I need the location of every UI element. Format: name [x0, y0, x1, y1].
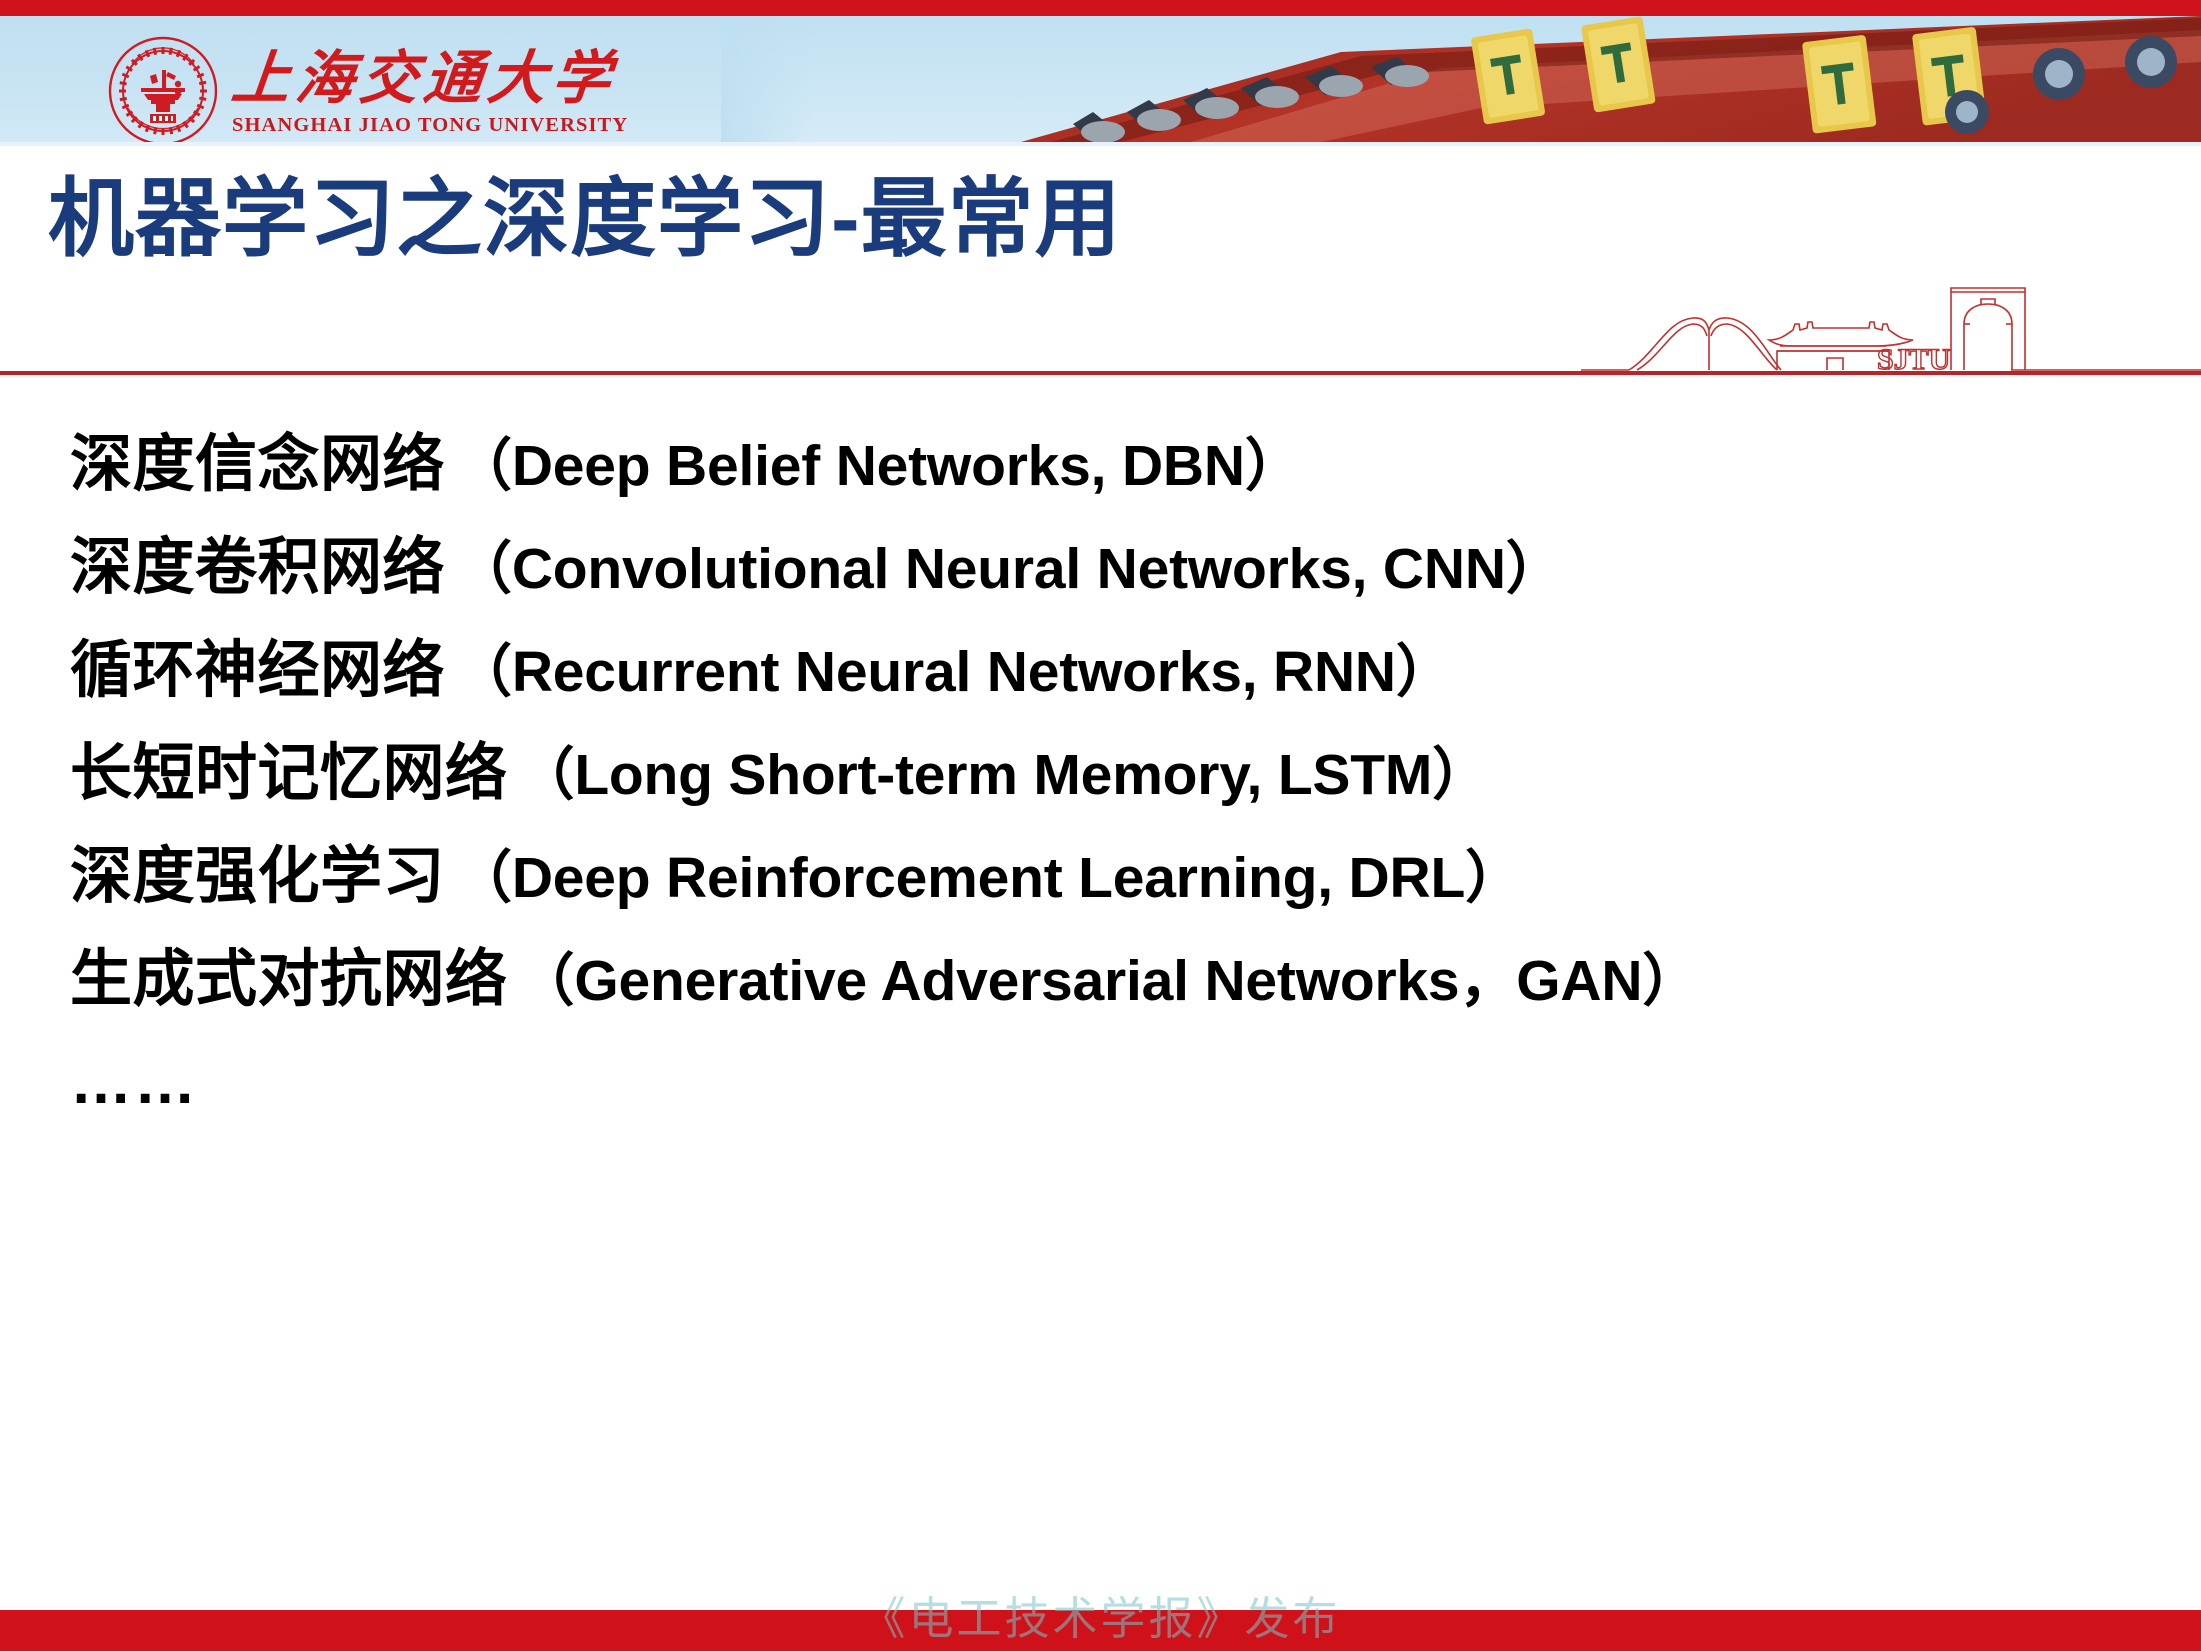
list-item-label-cn: 深度强化学习 [70, 840, 445, 914]
list-item-label-cn: 长短时记忆网络 [70, 737, 508, 811]
list-item: 深度强化学习 （Deep Reinforcement Learning, DRL… [70, 840, 2110, 914]
bottom-red-bar [0, 1610, 2201, 1651]
list-item-label-en: （Deep Belief Networks, DBN） [455, 429, 1302, 503]
sjtu-campus-skyline-line-art: SJTU [1581, 268, 2201, 376]
list-item: 生成式对抗网络 （Generative Adversarial Networks… [70, 943, 2110, 1017]
list-item: 深度信念网络 （Deep Belief Networks, DBN） [70, 428, 2110, 502]
top-red-bar [0, 0, 2201, 16]
deep-learning-method-list: 深度信念网络 （Deep Belief Networks, DBN） 深度卷积网… [70, 428, 2110, 1120]
sjtu-name-en: SHANGHAI JIAO TONG UNIVERSITY [232, 115, 628, 136]
list-item: 深度卷积网络 （Convolutional Neural Networks, C… [70, 531, 2110, 605]
skyline-sjtu-label: SJTU [1877, 343, 1950, 376]
sjtu-seal-icon [108, 36, 218, 142]
presentation-slide: 上海交通大学 SHANGHAI JIAO TONG UNIVERSITY 机器学… [0, 0, 2201, 1651]
header-band: 上海交通大学 SHANGHAI JIAO TONG UNIVERSITY [0, 16, 2201, 142]
list-item: 长短时记忆网络 （Long Short-term Memory, LSTM） [70, 737, 2110, 811]
sjtu-logo-text: 上海交通大学 SHANGHAI JIAO TONG UNIVERSITY [232, 50, 628, 136]
list-item-label-cn: 生成式对抗网络 [70, 943, 508, 1017]
sjtu-logo: 上海交通大学 SHANGHAI JIAO TONG UNIVERSITY [108, 36, 628, 142]
sjtu-name-cn: 上海交通大学 [229, 50, 631, 108]
temple-eaves-photo [721, 16, 2201, 142]
list-item-label-en: （Recurrent Neural Networks, RNN） [455, 635, 1453, 709]
list-item-label-en: （Long Short-term Memory, LSTM） [518, 738, 1489, 812]
list-item-label-en: （Generative Adversarial Networks，GAN） [518, 944, 1700, 1018]
page-title: 机器学习之深度学习-最常用 [48, 174, 1122, 264]
list-item-label-cn: 深度信念网络 [70, 428, 445, 502]
list-item-ellipsis: …… [70, 1046, 2110, 1120]
list-item-label-en: （Deep Reinforcement Learning, DRL） [455, 841, 1522, 915]
list-item: 循环神经网络 （Recurrent Neural Networks, RNN） [70, 634, 2110, 708]
list-item-label-cn: 深度卷积网络 [70, 531, 445, 605]
list-item-label-cn: 循环神经网络 [70, 634, 445, 708]
list-item-label-en: （Convolutional Neural Networks, CNN） [455, 532, 1563, 606]
